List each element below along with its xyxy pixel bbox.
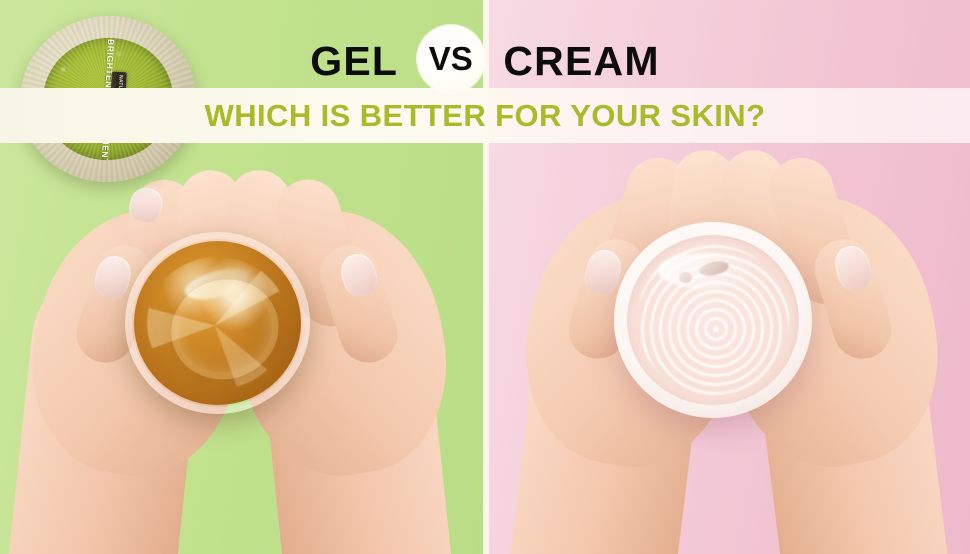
title-left-word: GEL: [310, 38, 398, 84]
page-title: GEL VS CREAM: [0, 27, 970, 95]
cream-jar: [614, 222, 812, 418]
gel-highlight: [182, 262, 256, 304]
cream-indent: [698, 259, 730, 278]
vs-badge: VS: [417, 25, 485, 93]
title-right-word: CREAM: [503, 38, 659, 84]
page-subtitle: WHICH IS BETTER FOR YOUR SKIN?: [0, 90, 970, 142]
cream-indent: [679, 272, 692, 283]
gel-surface: [134, 241, 301, 405]
promo-banner: BRIGHTENING DEPIGMENTATION GEL NATURAL G…: [0, 0, 970, 554]
gel-jar: [125, 232, 310, 414]
cream-surface: [627, 235, 799, 405]
